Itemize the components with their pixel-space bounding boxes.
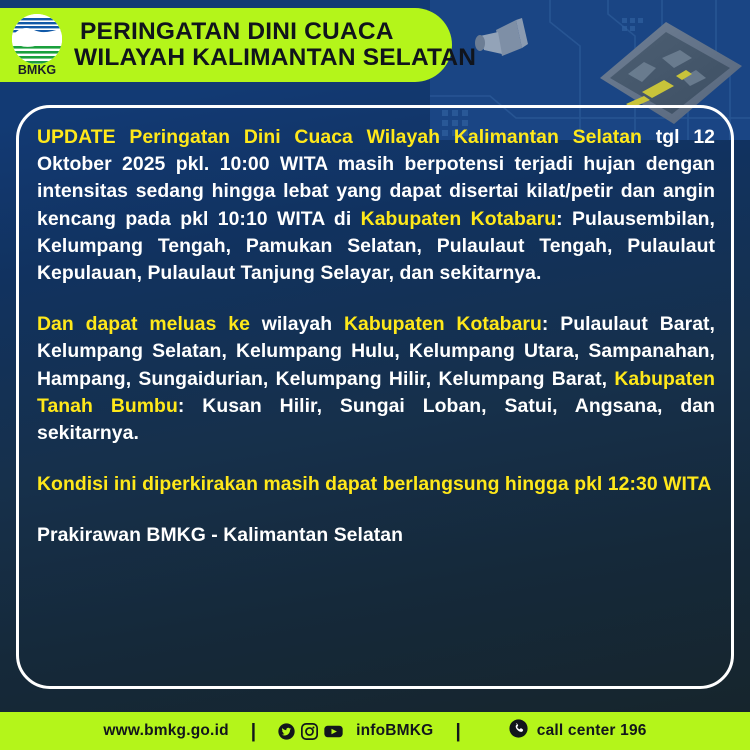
p1-highlight-regency: Kabupaten Kotabaru — [361, 208, 557, 230]
footer-bar: www.bmkg.go.id | — [0, 712, 750, 750]
header-title-group: PERINGATAN DINI CUACA WILAYAH KALIMANTAN… — [74, 19, 476, 71]
footer-call-center[interactable]: call center 196 — [509, 719, 647, 743]
footer-social-group: infoBMKG — [278, 722, 433, 740]
page-title-line2: WILAYAH KALIMANTAN SELATAN — [74, 45, 476, 71]
paragraph-duration: Kondisi ini diperkirakan masih dapat ber… — [37, 471, 715, 498]
warning-text-content: UPDATE Peringatan Dini Cuaca Wilayah Kal… — [37, 124, 715, 550]
youtube-icon[interactable] — [324, 723, 343, 740]
bmkg-logo-text: BMKG — [18, 63, 56, 77]
paragraph-primary-warning: UPDATE Peringatan Dini Cuaca Wilayah Kal… — [37, 124, 715, 287]
phone-icon — [509, 719, 528, 743]
paragraph-expansion-areas: Dan dapat meluas ke wilayah Kabupaten Ko… — [37, 311, 715, 447]
footer-divider-right: | — [455, 722, 460, 741]
p2-highlight-regency-kotabaru: Kabupaten Kotabaru — [344, 313, 542, 335]
bmkg-logo: BMKG — [6, 12, 68, 78]
p2-text-1: wilayah — [250, 313, 344, 335]
twitter-icon[interactable] — [278, 723, 295, 740]
paragraph-signature: Prakirawan BMKG - Kalimantan Selatan — [37, 522, 715, 549]
header-banner: BMKG PERINGATAN DINI CUACA WILAYAH KALIM… — [0, 8, 452, 82]
p2-highlight-lead: Dan dapat meluas ke — [37, 313, 250, 335]
footer-website[interactable]: www.bmkg.go.id — [103, 722, 228, 740]
instagram-icon[interactable] — [301, 723, 318, 740]
footer-social-handle[interactable]: infoBMKG — [356, 722, 433, 740]
footer-divider-left: | — [251, 722, 256, 741]
footer-call-center-label: call center 196 — [537, 722, 647, 740]
p1-highlight-title: UPDATE Peringatan Dini Cuaca Wilayah Kal… — [37, 126, 642, 148]
weather-warning-poster: BMKG PERINGATAN DINI CUACA WILAYAH KALIM… — [0, 0, 750, 750]
page-title-line1: PERINGATAN DINI CUACA — [80, 19, 476, 45]
